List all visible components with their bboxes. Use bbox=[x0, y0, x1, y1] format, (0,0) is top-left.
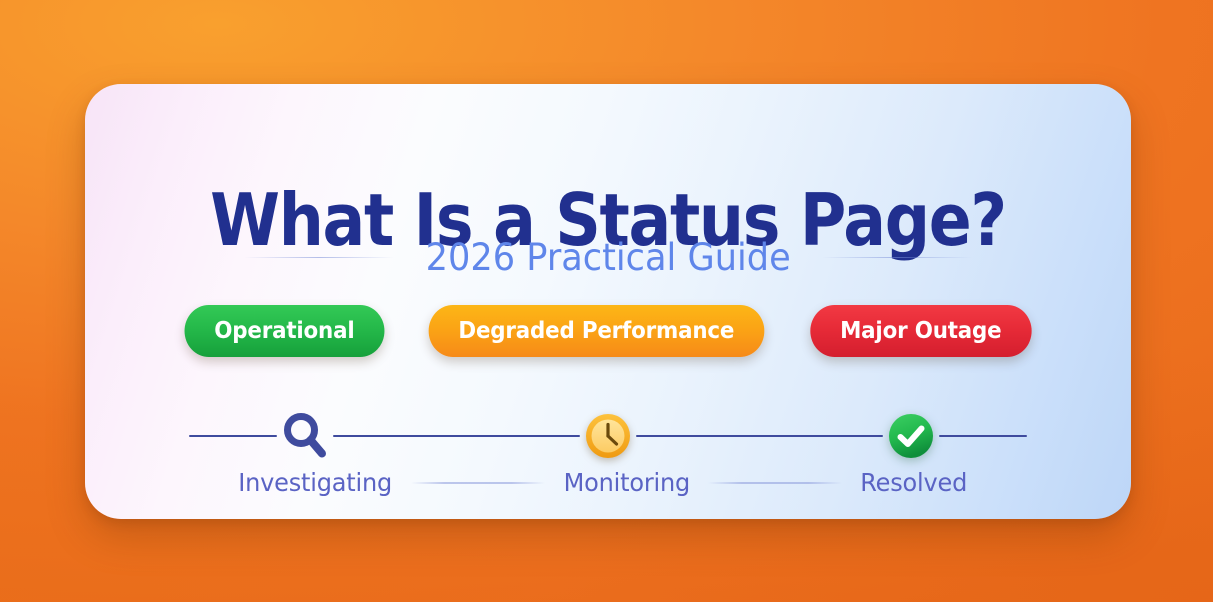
timeline-label-resolved: Resolved bbox=[860, 468, 967, 497]
subtitle-rule-left bbox=[244, 257, 394, 258]
subtitle-rule-right bbox=[822, 257, 972, 258]
check-circle-icon bbox=[888, 413, 934, 459]
timeline-label-investigating: Investigating bbox=[238, 468, 392, 497]
status-badge-operational[interactable]: Operational bbox=[184, 305, 384, 357]
timeline-label-connector-2 bbox=[708, 482, 841, 484]
timeline-label-monitoring: Monitoring bbox=[563, 468, 689, 497]
poster-canvas: What Is a Status Page? 2026 Practical Gu… bbox=[0, 0, 1213, 602]
timeline-line-end bbox=[939, 435, 1027, 437]
timeline-node-investigating[interactable] bbox=[277, 410, 333, 462]
status-badge-row: Operational Degraded Performance Major O… bbox=[85, 305, 1131, 357]
timeline-label-connector-1 bbox=[411, 482, 544, 484]
page-subtitle: 2026 Practical Guide bbox=[425, 236, 790, 279]
status-page-card: What Is a Status Page? 2026 Practical Gu… bbox=[85, 84, 1131, 519]
incident-timeline: Investigating Monitoring Resolved bbox=[189, 384, 1027, 494]
timeline-node-monitoring[interactable] bbox=[580, 410, 636, 462]
timeline-track bbox=[189, 415, 1027, 457]
clock-icon bbox=[585, 413, 631, 459]
status-badge-major-outage[interactable]: Major Outage bbox=[810, 305, 1031, 357]
timeline-line-start bbox=[189, 435, 277, 437]
timeline-node-resolved[interactable] bbox=[883, 410, 939, 462]
subtitle-row: 2026 Practical Guide bbox=[85, 236, 1131, 279]
timeline-line-1 bbox=[333, 435, 580, 437]
magnifier-icon bbox=[282, 411, 328, 461]
timeline-line-2 bbox=[636, 435, 883, 437]
timeline-labels: Investigating Monitoring Resolved bbox=[189, 468, 1027, 497]
status-badge-degraded-performance[interactable]: Degraded Performance bbox=[429, 305, 764, 357]
